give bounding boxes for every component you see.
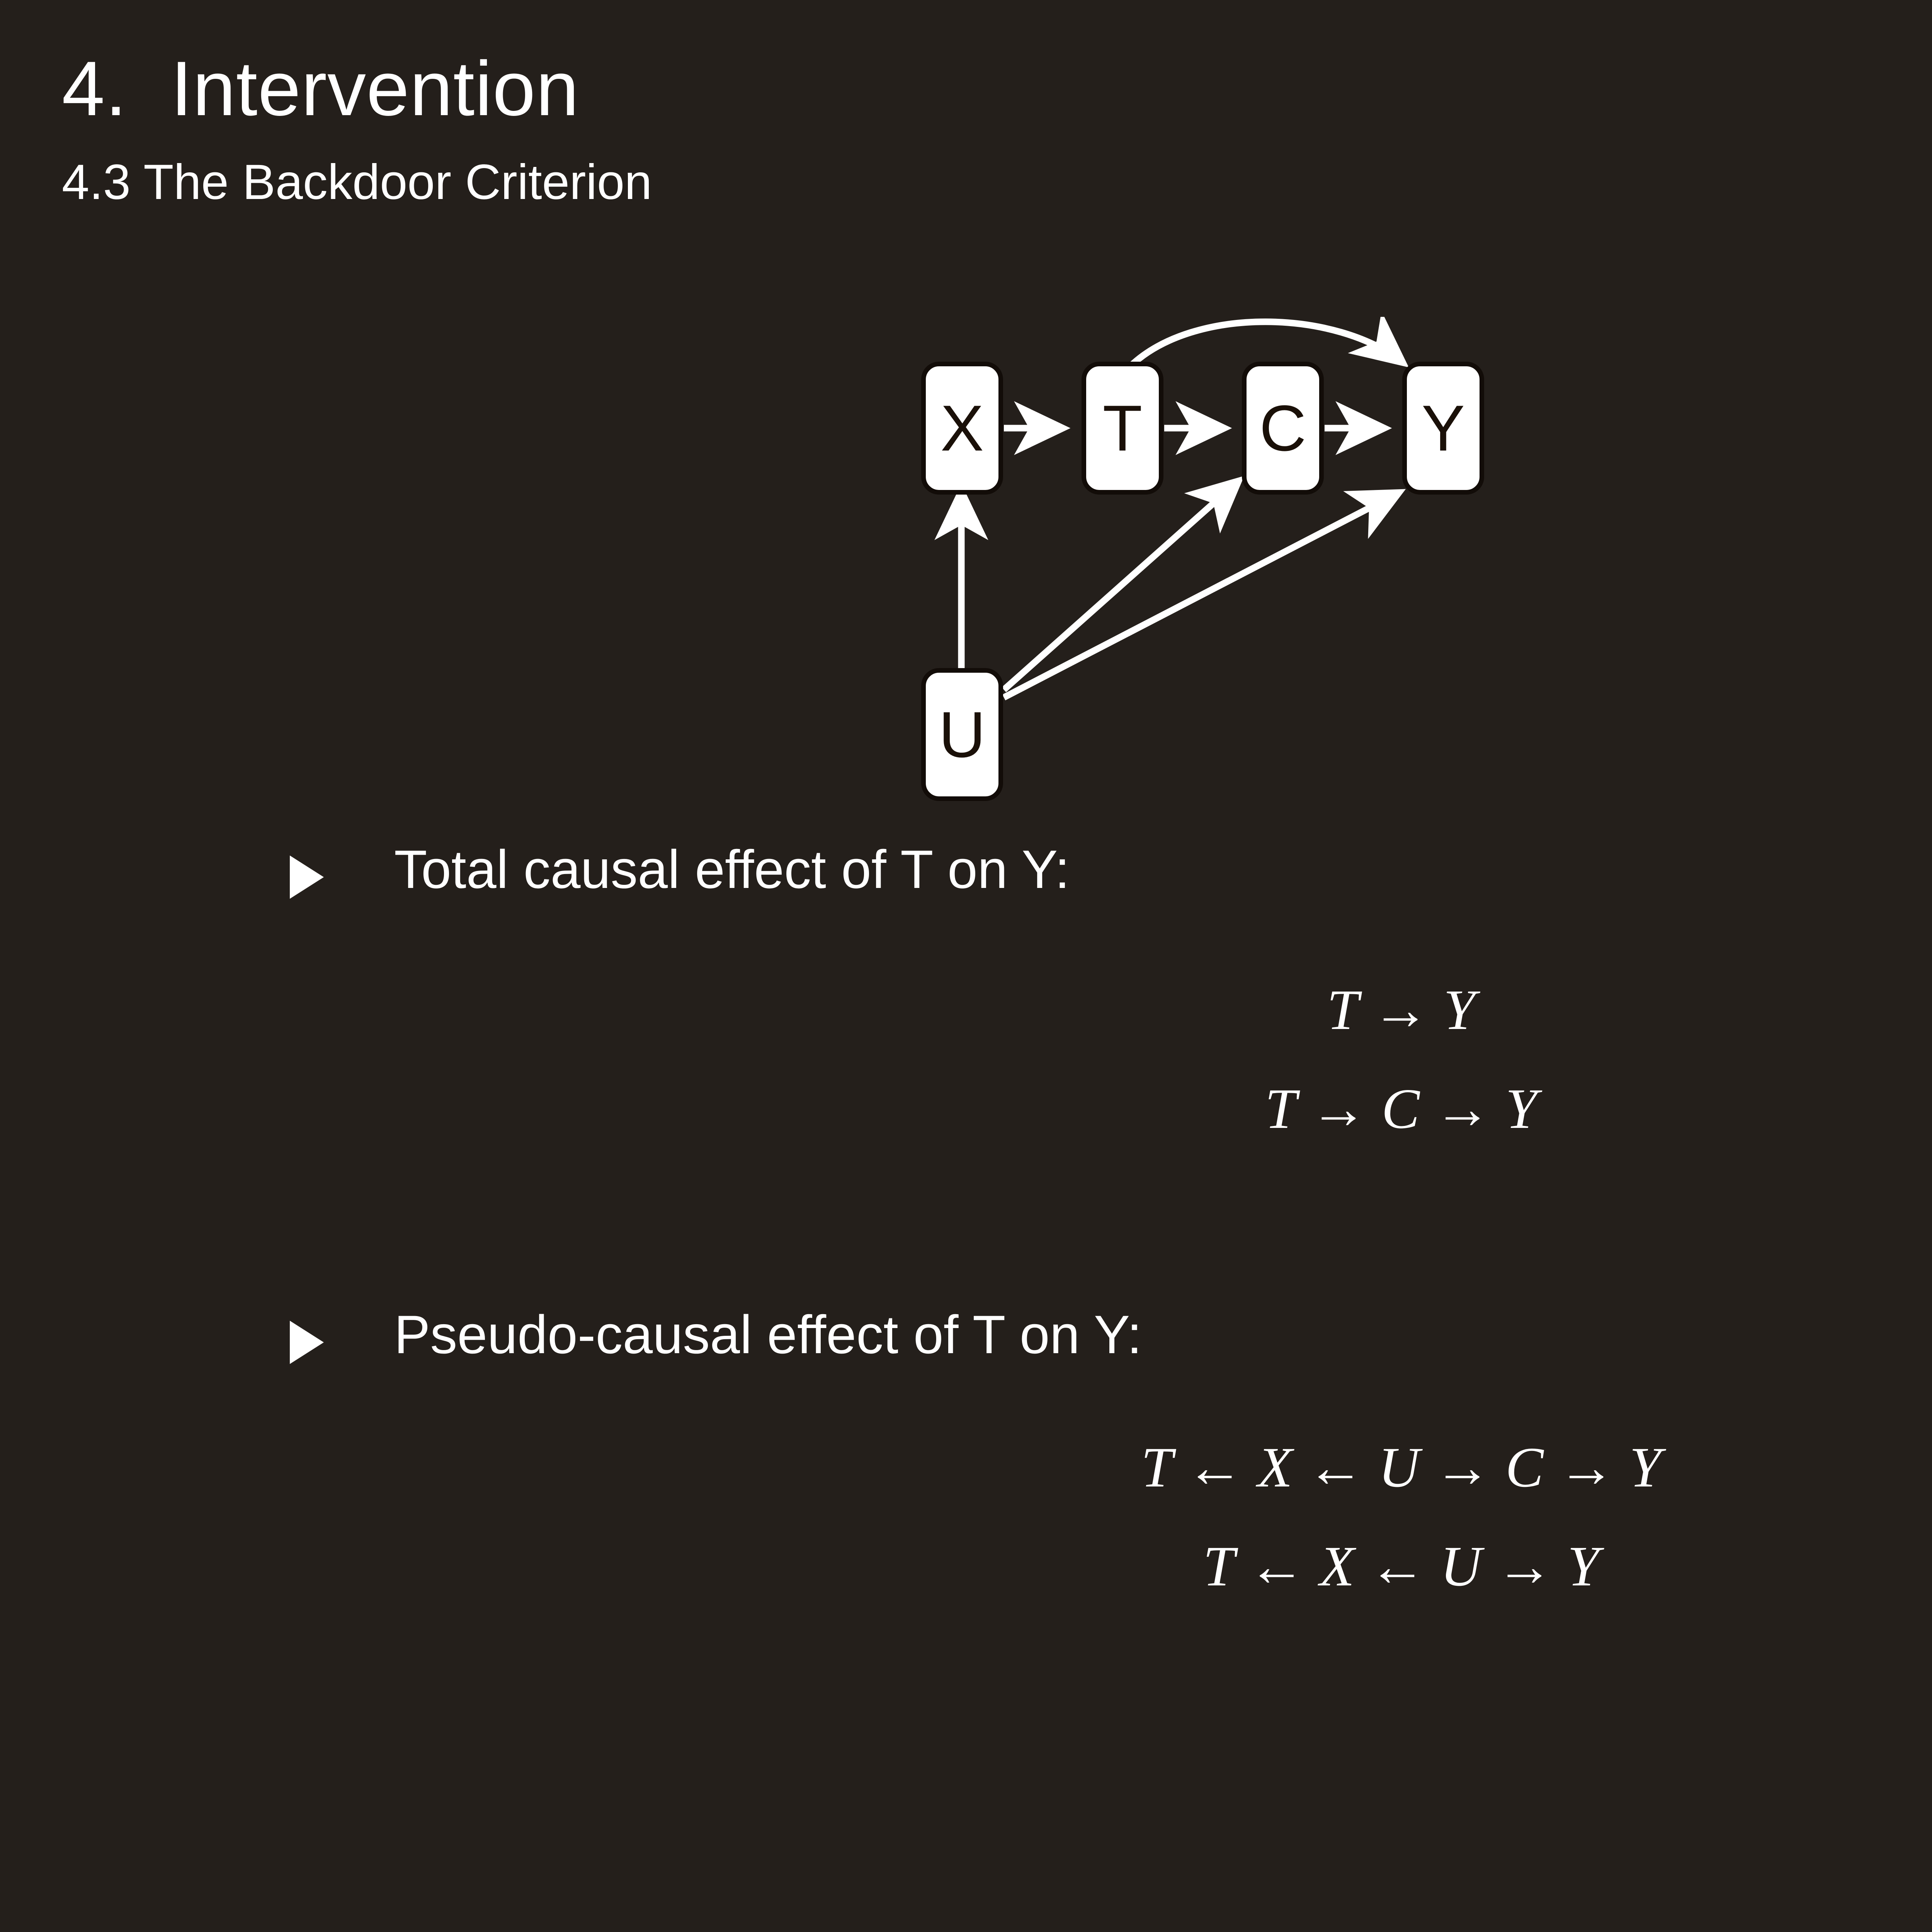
slide-body: Total causal effect of T on Y: T → Y T →…: [0, 842, 1932, 1595]
bullet-item-total-causal-effect: Total causal effect of T on Y:: [0, 842, 1932, 908]
edge-T-to-Y-arc: [1130, 322, 1403, 366]
triangle-bullet-icon: [290, 1321, 324, 1364]
causal-dag-diagram: X T C Y U: [900, 317, 1924, 827]
dag-node-Y[interactable]: Y: [1405, 364, 1482, 492]
dag-node-label: C: [1259, 392, 1306, 464]
dag-node-label: X: [940, 392, 984, 464]
dag-node-label: U: [939, 698, 985, 771]
bullet-label: Pseudo-causal effect of T on Y:: [394, 1304, 1142, 1365]
dag-node-label: Y: [1422, 392, 1465, 464]
equation-line: T ← X ← U → C → Y: [0, 1439, 1932, 1496]
triangle-bullet-icon: [290, 855, 324, 899]
dag-svg: X T C Y U: [900, 317, 1924, 827]
subsection-title: 4.3 The Backdoor Criterion: [62, 158, 1932, 207]
dag-node-X[interactable]: X: [923, 364, 1001, 492]
bullet-item-pseudo-causal-effect: Pseudo-causal effect of T on Y:: [0, 1308, 1932, 1373]
equation-group-total-causal-effect: T → Y T → C → Y: [0, 981, 1932, 1138]
dag-edges: [961, 322, 1403, 697]
page-title: 4. Intervention: [62, 50, 1932, 128]
dag-node-label: T: [1103, 392, 1143, 464]
slide-header: 4. Intervention 4.3 The Backdoor Criteri…: [62, 50, 1932, 207]
equation-group-pseudo-causal-effect: T ← X ← U → C → Y T ← X ← U → Y: [0, 1439, 1932, 1595]
dag-node-U[interactable]: U: [923, 670, 1001, 799]
dag-node-T[interactable]: T: [1084, 364, 1161, 492]
edge-U-to-C: [1004, 481, 1238, 690]
bullet-label: Total causal effect of T on Y:: [394, 839, 1070, 900]
equation-line: T → C → Y: [0, 1080, 1932, 1138]
equation-line: T ← X ← U → Y: [0, 1538, 1932, 1595]
dag-node-C[interactable]: C: [1244, 364, 1321, 492]
equation-line: T → Y: [0, 981, 1932, 1039]
edge-U-to-Y: [1004, 493, 1399, 697]
